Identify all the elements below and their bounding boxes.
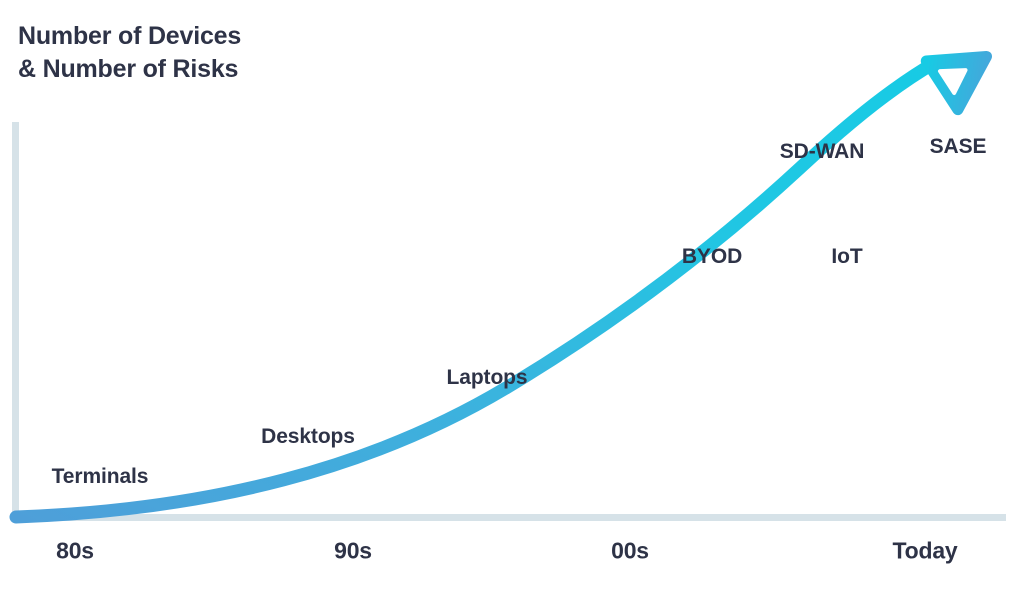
annotation-sase: SASE bbox=[930, 135, 987, 159]
y-axis-line bbox=[12, 122, 19, 521]
x-tick-00s: 00s bbox=[611, 538, 649, 565]
x-tick-today: Today bbox=[892, 538, 957, 565]
x-tick-80s: 80s bbox=[56, 538, 94, 565]
x-tick-90s: 90s bbox=[334, 538, 372, 565]
chart-plot-area bbox=[0, 0, 1024, 594]
annotation-iot: IoT bbox=[831, 245, 862, 269]
annotation-sd-wan: SD-WAN bbox=[780, 140, 865, 164]
annotation-laptops: Laptops bbox=[447, 366, 528, 390]
chart-canvas: Number of Devices & Number of Risks Te bbox=[0, 0, 1024, 594]
x-axis-line bbox=[12, 514, 1006, 521]
annotation-desktops: Desktops bbox=[261, 425, 355, 449]
annotation-terminals: Terminals bbox=[52, 465, 149, 489]
curve-arrowhead bbox=[926, 32, 1002, 110]
annotation-byod: BYOD bbox=[682, 245, 742, 269]
growth-curve bbox=[16, 62, 936, 517]
